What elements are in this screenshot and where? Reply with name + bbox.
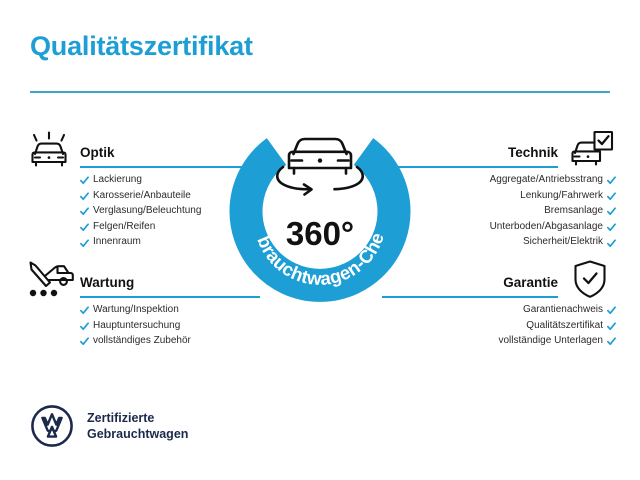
footer-line-1: Zertifizierte xyxy=(87,410,188,426)
section-optik-title: Optik xyxy=(80,145,115,160)
list-item-label: Sicherheit/Elektrik xyxy=(523,234,603,250)
list-item-label: Qualitätszertifikat xyxy=(526,318,603,334)
check-icon xyxy=(80,305,89,314)
360-grad-check-badge: Gebrauchtwagen-Check 360° xyxy=(228,122,412,310)
check-icon xyxy=(80,191,89,200)
list-item-label: Felgen/Reifen xyxy=(93,219,155,235)
qualitaetszertifikat-page: Qualitätszertifikat Optik xyxy=(0,0,640,480)
list-item-label: Hauptuntersuchung xyxy=(93,318,180,334)
list-item: Unterboden/Abgasanlage xyxy=(382,219,616,235)
page-title: Qualitätszertifikat xyxy=(30,31,253,62)
list-item: Aggregate/Antriebsstrang xyxy=(382,172,616,188)
car-front-rotate-icon xyxy=(277,139,363,195)
title-divider xyxy=(30,91,610,93)
check-icon xyxy=(80,238,89,247)
check-icon xyxy=(80,206,89,215)
wrench-car-icon xyxy=(24,258,76,300)
section-technik-title: Technik xyxy=(508,145,558,160)
section-garantie-header: Garantie xyxy=(382,258,616,302)
section-technik-header: Technik xyxy=(382,128,616,172)
list-item-label: Garantienachweis xyxy=(523,302,603,318)
vw-roundel-icon xyxy=(30,404,74,448)
section-garantie-list: Garantienachweis Qualitätszertifikat vol… xyxy=(382,302,616,349)
section-wartung: Wartung Wartung/Inspektion Hauptuntersuc… xyxy=(24,258,260,349)
check-icon xyxy=(607,175,616,184)
list-item-label: Lackierung xyxy=(93,172,142,188)
car-checkbox-icon xyxy=(564,128,616,170)
list-item-label: Unterboden/Abgasanlage xyxy=(490,219,603,235)
list-item: Bremsanlage xyxy=(382,203,616,219)
check-icon xyxy=(80,175,89,184)
section-garantie-title: Garantie xyxy=(503,275,558,290)
list-item: Garantienachweis xyxy=(382,302,616,318)
check-icon xyxy=(607,321,616,330)
list-item-label: Aggregate/Antriebsstrang xyxy=(490,172,603,188)
check-icon xyxy=(80,321,89,330)
list-item-label: Karosserie/Anbauteile xyxy=(93,188,191,204)
check-icon xyxy=(607,238,616,247)
list-item-label: Verglasung/Beleuchtung xyxy=(93,203,201,219)
check-icon xyxy=(607,191,616,200)
vw-certified-footer: Zertifizierte Gebrauchtwagen xyxy=(30,404,188,448)
list-item-label: Bremsanlage xyxy=(544,203,603,219)
shield-check-icon xyxy=(564,258,616,300)
check-icon xyxy=(80,222,89,231)
list-item-label: Innenraum xyxy=(93,234,141,250)
check-icon xyxy=(607,222,616,231)
section-technik: Technik Aggregate/Antriebsstrang Lenkung… xyxy=(382,128,616,250)
section-wartung-header: Wartung xyxy=(24,258,260,302)
badge-center-label: 360° xyxy=(286,215,354,252)
check-icon xyxy=(607,206,616,215)
section-optik-list: Lackierung Karosserie/Anbauteile Verglas… xyxy=(24,172,260,250)
footer-line-2: Gebrauchtwagen xyxy=(87,426,188,442)
section-optik-header: Optik xyxy=(24,128,260,172)
check-icon xyxy=(607,305,616,314)
car-shine-icon xyxy=(24,128,76,170)
check-icon xyxy=(80,336,89,345)
list-item-label: vollständiges Zubehör xyxy=(93,333,191,349)
check-icon xyxy=(607,336,616,345)
list-item: vollständige Unterlagen xyxy=(382,333,616,349)
list-item: Qualitätszertifikat xyxy=(382,318,616,334)
section-garantie: Garantie Garantienachweis Qualitätszerti… xyxy=(382,258,616,349)
list-item: Hauptuntersuchung xyxy=(80,318,260,334)
footer-text: Zertifizierte Gebrauchtwagen xyxy=(87,410,188,442)
section-wartung-list: Wartung/Inspektion Hauptuntersuchung vol… xyxy=(24,302,260,349)
list-item-label: vollständige Unterlagen xyxy=(498,333,603,349)
list-item: Lenkung/Fahrwerk xyxy=(382,188,616,204)
list-item-label: Wartung/Inspektion xyxy=(93,302,179,318)
list-item-label: Lenkung/Fahrwerk xyxy=(520,188,603,204)
list-item: Sicherheit/Elektrik xyxy=(382,234,616,250)
section-technik-list: Aggregate/Antriebsstrang Lenkung/Fahrwer… xyxy=(382,172,616,250)
section-wartung-title: Wartung xyxy=(80,275,134,290)
list-item: vollständiges Zubehör xyxy=(80,333,260,349)
section-optik: Optik Lackierung Karosserie/Anbauteile xyxy=(24,128,260,250)
